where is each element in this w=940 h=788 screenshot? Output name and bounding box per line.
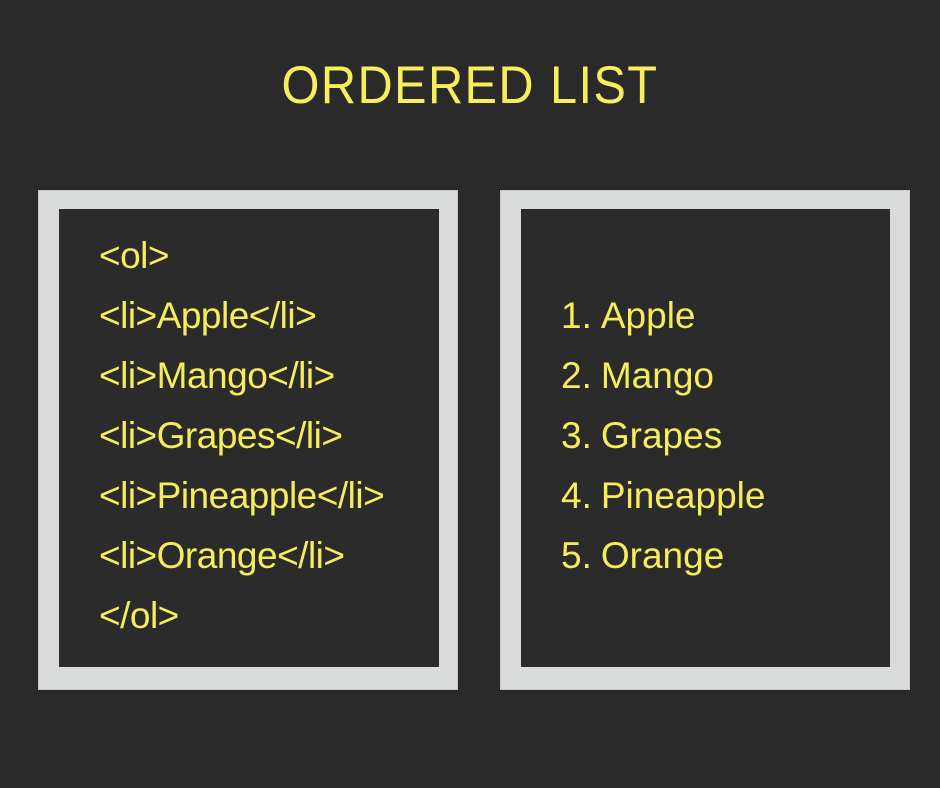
list-item: 5.Orange [561, 526, 886, 586]
code-line: <li>Pineapple</li> [99, 466, 435, 526]
ordered-list: 1.Apple 2.Mango 3.Grapes 4.Pineapple 5.O… [561, 286, 886, 586]
code-block: <ol> <li>Apple</li> <li>Mango</li> <li>G… [99, 226, 435, 646]
list-item-label: Mango [601, 355, 714, 396]
code-line: <ol> [99, 226, 435, 286]
list-item-marker: 3. [561, 415, 592, 456]
code-line: <li>Grapes</li> [99, 406, 435, 466]
list-item-label: Grapes [601, 415, 722, 456]
slide-canvas: ORDERED LIST <ol> <li>Apple</li> <li>Man… [0, 0, 940, 788]
list-item-label: Orange [601, 535, 724, 576]
list-item-label: Apple [601, 295, 696, 336]
code-line: <li>Mango</li> [99, 346, 435, 406]
list-item-marker: 1. [561, 295, 592, 336]
list-item-label: Pineapple [601, 475, 766, 516]
code-line: <li>Apple</li> [99, 286, 435, 346]
code-panel-body: <ol> <li>Apple</li> <li>Mango</li> <li>G… [59, 209, 439, 667]
list-item-marker: 2. [561, 355, 592, 396]
list-item-marker: 5. [561, 535, 592, 576]
code-line: </ol> [99, 586, 435, 646]
list-item: 2.Mango [561, 346, 886, 406]
page-title: ORDERED LIST [38, 56, 903, 116]
output-panel-frame: 1.Apple 2.Mango 3.Grapes 4.Pineapple 5.O… [500, 190, 910, 690]
code-panel-frame: <ol> <li>Apple</li> <li>Mango</li> <li>G… [38, 190, 458, 690]
list-item: 1.Apple [561, 286, 886, 346]
list-item-marker: 4. [561, 475, 592, 516]
list-item: 3.Grapes [561, 406, 886, 466]
code-line: <li>Orange</li> [99, 526, 435, 586]
output-panel-body: 1.Apple 2.Mango 3.Grapes 4.Pineapple 5.O… [521, 209, 890, 667]
list-item: 4.Pineapple [561, 466, 886, 526]
